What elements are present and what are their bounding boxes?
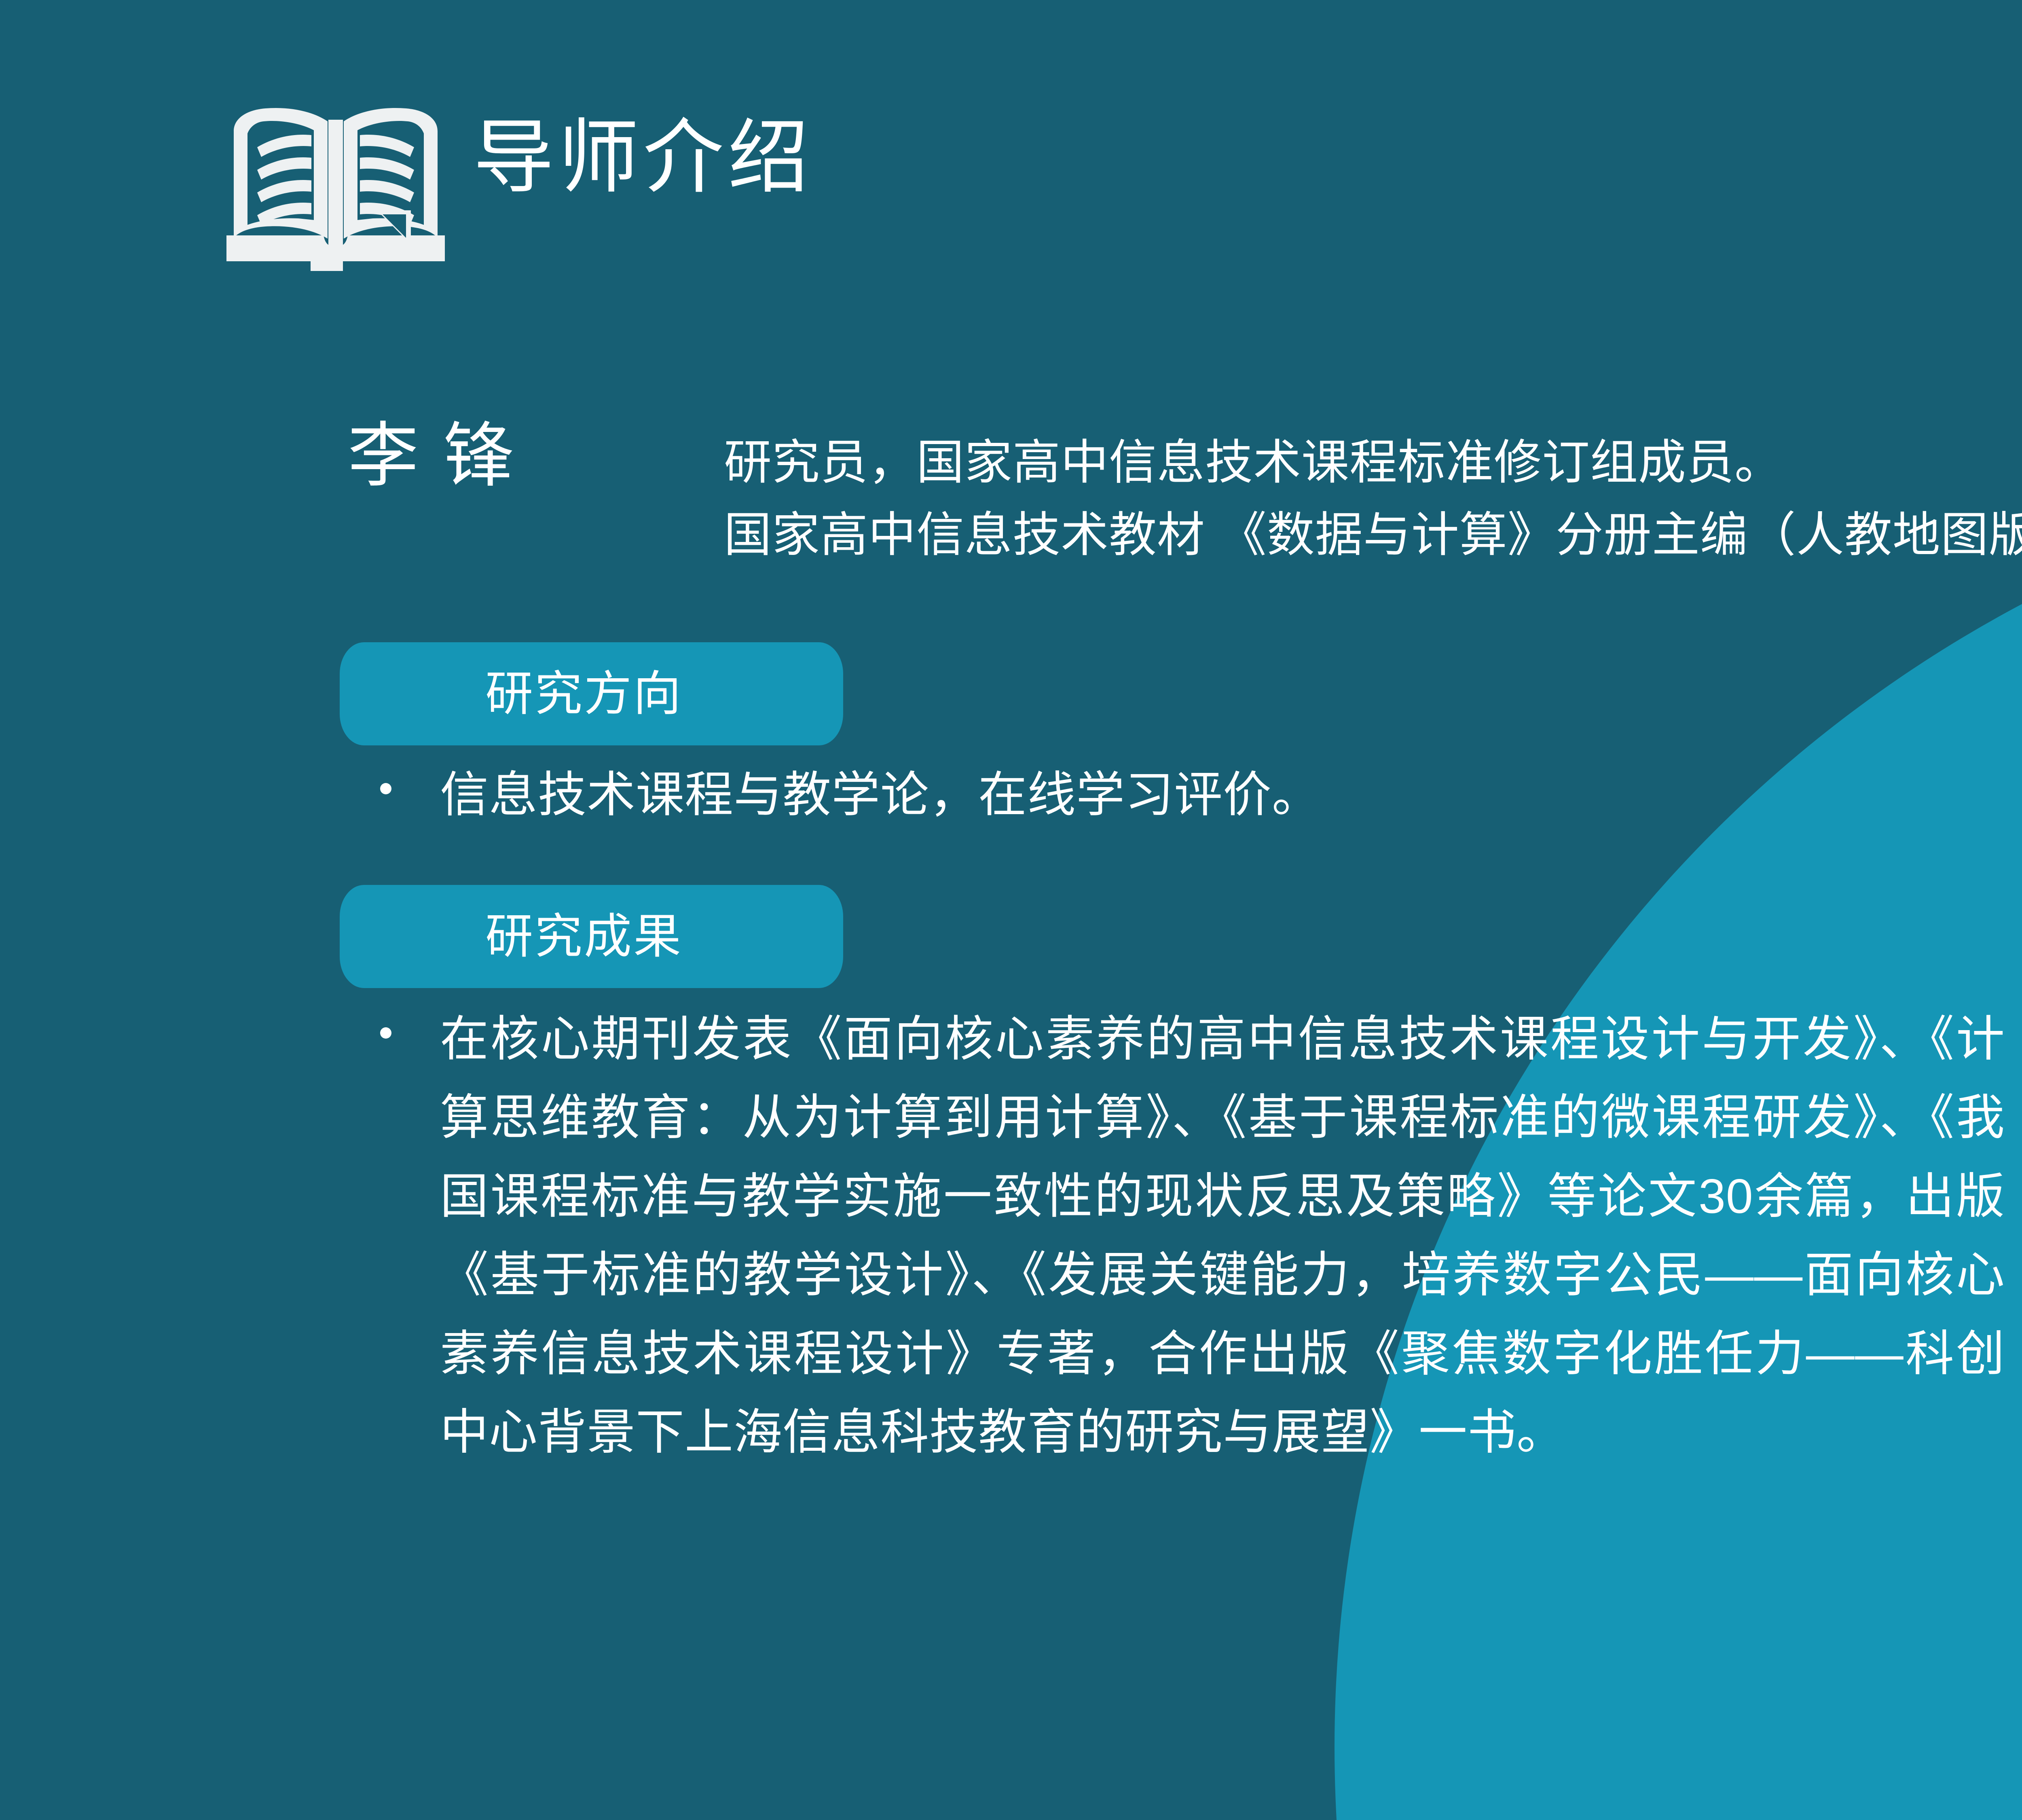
bullet-research-direction: 信息技术课程与教学论，在线学习评价。 [380,756,1755,834]
bullet-research-results: 在核心期刊发表《面向核心素养的高中信息技术课程设计与开发》、《计算思维教育：从为… [380,1000,2022,1471]
slide-root: 导师介绍 E [0,0,2022,1820]
badge-research-direction: 研究方向 [340,642,843,745]
bullet-research-results-text: 在核心期刊发表《面向核心素养的高中信息技术课程设计与开发》、《计算思维教育：从为… [440,1000,2005,1471]
person-title-line-2: 国家高中信息技术教材 《数据与计算》分册主编（人教地图版）。 [724,499,2022,571]
open-book-icon [226,96,445,274]
badge-research-results: 研究成果 [340,885,843,988]
bullet-dot-icon [380,1027,391,1039]
bullet-dot-icon [380,783,391,794]
person-title-line-1: 研究员，国家高中信息技术课程标准修订组成员。 [724,427,2022,499]
page-title: 导师介绍 [473,117,813,198]
person-name: 李 锋 [348,417,516,496]
slide-header: 导师介绍 [0,0,2022,307]
badge-research-direction-label: 研究方向 [485,670,683,718]
person-titles: 研究员，国家高中信息技术课程标准修订组成员。 国家高中信息技术教材 《数据与计算… [724,427,2022,572]
bullet-research-direction-text: 信息技术课程与教学论，在线学习评价。 [440,756,1321,834]
badge-research-results-label: 研究成果 [485,913,683,961]
